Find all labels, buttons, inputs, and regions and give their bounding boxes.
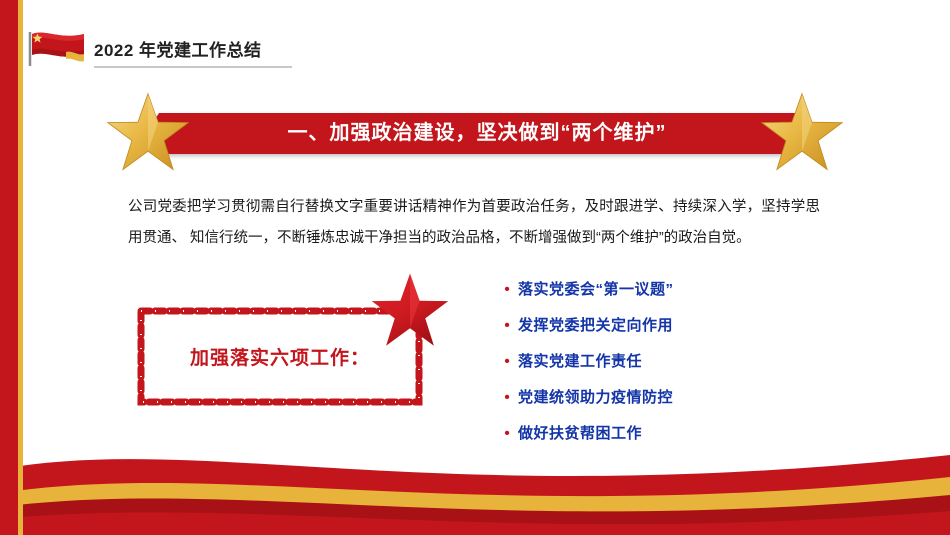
bullet-marker-icon: • [496, 380, 518, 416]
list-item: • 党建统领助力疫情防控 [496, 380, 826, 416]
banner-title: 一、加强政治建设，坚决做到“两个维护” [159, 113, 795, 154]
slide: 2022 年党建工作总结 一、加强政治建设，坚决做到“两个维护” [0, 0, 950, 535]
list-item-label: 落实党建工作责任 [518, 344, 642, 380]
body-paragraph: 公司党委把学习贯彻需自行替换文字重要讲话精神作为首要政治任务，及时跟进学、持续深… [128, 192, 820, 254]
left-red-band [0, 0, 18, 535]
list-item: • 落实党委会“第一议题” [496, 272, 826, 308]
list-item: • 发挥党委把关定向作用 [496, 308, 826, 344]
section-banner: 一、加强政治建设，坚决做到“两个维护” [105, 92, 845, 172]
banner-bar: 一、加强政治建设，坚决做到“两个维护” [159, 113, 795, 154]
header-title: 2022 年党建工作总结 [94, 36, 262, 61]
list-item-label: 发挥党委把关定向作用 [518, 308, 673, 344]
list-item-label: 落实党委会“第一议题” [518, 272, 674, 308]
header-divider [94, 66, 292, 68]
bottom-wave-decoration [0, 415, 950, 535]
bullet-marker-icon: • [496, 344, 518, 380]
gold-star-icon [105, 92, 191, 174]
bullet-marker-icon: • [496, 308, 518, 344]
red-star-icon [369, 272, 451, 350]
list-item-label: 党建统领助力疫情防控 [518, 380, 673, 416]
slide-header: 2022 年党建工作总结 [0, 0, 950, 88]
red-flag-icon [26, 28, 88, 68]
left-gold-band [18, 0, 23, 535]
bullet-marker-icon: • [496, 272, 518, 308]
list-item: • 落实党建工作责任 [496, 344, 826, 380]
paragraph-text: 公司党委把学习贯彻需自行替换文字重要讲话精神作为首要政治任务，及时跟进学、持续深… [128, 192, 820, 254]
gold-star-icon [759, 92, 845, 174]
